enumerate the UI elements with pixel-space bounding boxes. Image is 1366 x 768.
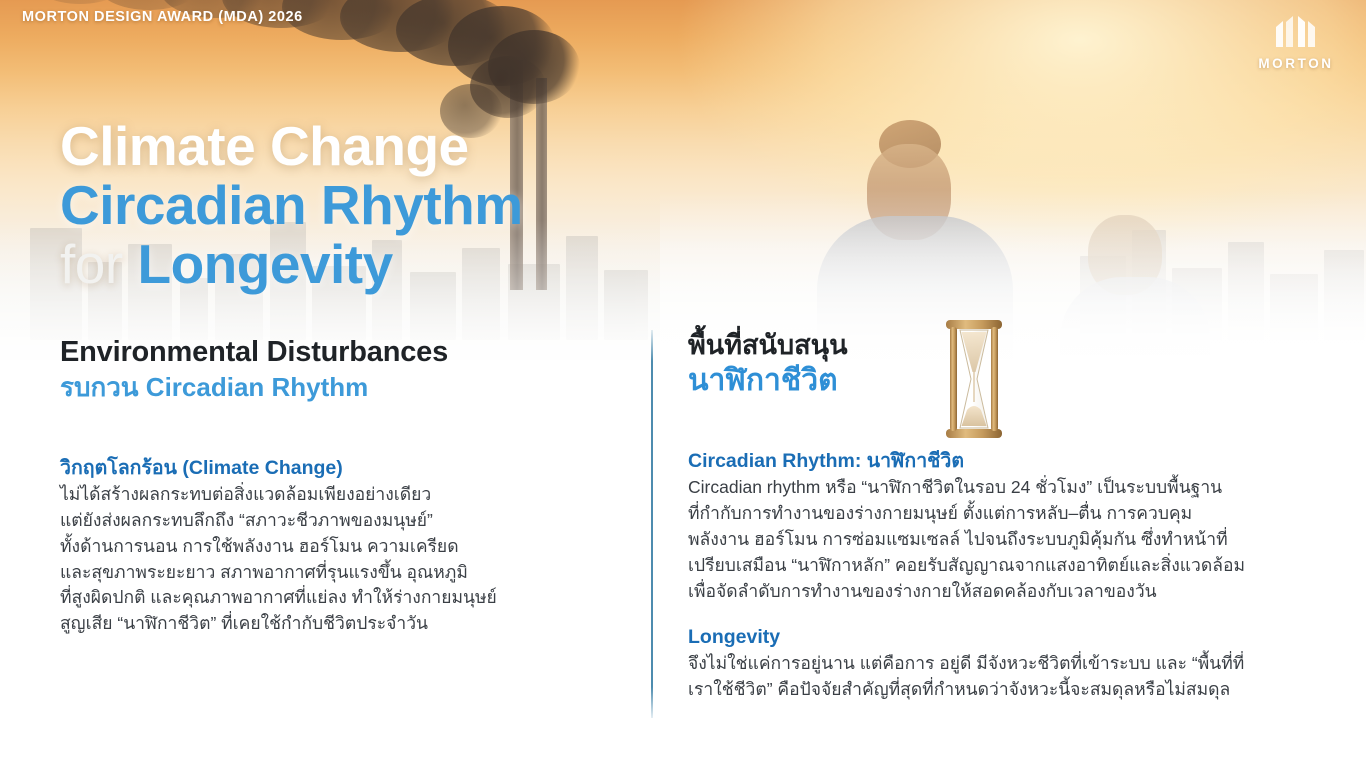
right-text-block-1: Circadian Rhythm: นาฬิกาชีวิต Circadian … [688, 449, 1313, 605]
right-body-line: เราใช้ชีวิต” คือปัจจัยสำคัญที่สุดที่กำหน… [688, 677, 1313, 703]
column-divider [651, 330, 653, 718]
left-column: Environmental Disturbances รบกวน Circadi… [60, 336, 630, 637]
left-body-line: แต่ยังส่งผลกระทบลึกถึง “สภาวะชีวภาพของมน… [60, 508, 630, 534]
slide-root: MORTON DESIGN AWARD (MDA) 2026 MORTON Cl… [0, 0, 1366, 768]
morton-logo: MORTON [1248, 14, 1344, 71]
right-text-block-2: Longevity จึงไม่ใช่แค่การอยู่นาน แต่คือก… [688, 625, 1313, 703]
right-block-1-title: Circadian Rhythm: นาฬิกาชีวิต [688, 449, 1313, 473]
right-body-line: พลังงาน ฮอร์โมน การซ่อมแซมเซลล์ ไปจนถึงร… [688, 527, 1313, 553]
left-heading-th: รบกวน Circadian Rhythm [60, 372, 630, 403]
award-kicker: MORTON DESIGN AWARD (MDA) 2026 [22, 9, 303, 25]
right-body-line: Circadian rhythm หรือ “นาฬิกาชีวิตในรอบ … [688, 475, 1313, 501]
right-block-2-title: Longevity [688, 625, 1313, 649]
left-block-body: ไม่ได้สร้างผลกระทบต่อสิ่งแวดล้อมเพียงอย่… [60, 482, 630, 637]
left-body-line: สูญเสีย “นาฬิกาชีวิต” ที่เคยใช้กำกับชีวิ… [60, 611, 630, 637]
right-body-line: จึงไม่ใช่แค่การอยู่นาน แต่คือการ อยู่ดี … [688, 651, 1313, 677]
hero-line-2: Circadian Rhythm [60, 177, 523, 234]
right-block-1-body: Circadian rhythm หรือ “นาฬิกาชีวิตในรอบ … [688, 475, 1313, 604]
left-block-title: วิกฤตโลกร้อน (Climate Change) [60, 456, 630, 480]
right-body-line: ที่กำกับการทำงานของร่างกายมนุษย์ ตั้งแต่… [688, 501, 1313, 527]
left-body-line: ที่สูงผิดปกติ และคุณภาพอากาศที่แย่ลง ทำใ… [60, 585, 630, 611]
left-text-block: วิกฤตโลกร้อน (Climate Change) ไม่ได้สร้า… [60, 456, 630, 638]
hero-for-word: for [60, 233, 123, 295]
right-heading: พื้นที่สนับสนุน นาฬิกาชีวิต [688, 330, 1313, 399]
hero-longevity-word: Longevity [137, 233, 392, 295]
hero-line-1: Climate Change [60, 118, 523, 175]
left-body-line: ทั้งด้านการนอน การใช้พลังงาน ฮอร์โมน ควา… [60, 534, 630, 560]
hero-line-3: for Longevity [60, 236, 523, 293]
right-body-line: เปรียบเสมือน “นาฬิกาหลัก” คอยรับสัญญาณจา… [688, 553, 1313, 579]
right-body-line: เพื่อจัดลำดับการทำงานของร่างกายให้สอดคล้… [688, 579, 1313, 605]
left-body-line: ไม่ได้สร้างผลกระทบต่อสิ่งแวดล้อมเพียงอย่… [60, 482, 630, 508]
left-body-line: และสุขภาพระยะยาว สภาพอากาศที่รุนแรงขึ้น … [60, 560, 630, 586]
right-column: พื้นที่สนับสนุน นาฬิกาชีวิต [688, 330, 1313, 703]
hero-title: Climate Change Circadian Rhythm for Long… [60, 118, 523, 294]
morton-logo-text: MORTON [1248, 56, 1344, 71]
morton-building-mark-icon [1248, 14, 1344, 53]
left-heading-en: Environmental Disturbances [60, 336, 630, 369]
right-block-2-body: จึงไม่ใช่แค่การอยู่นาน แต่คือการ อยู่ดี … [688, 651, 1313, 703]
hourglass-icon [943, 318, 1005, 440]
